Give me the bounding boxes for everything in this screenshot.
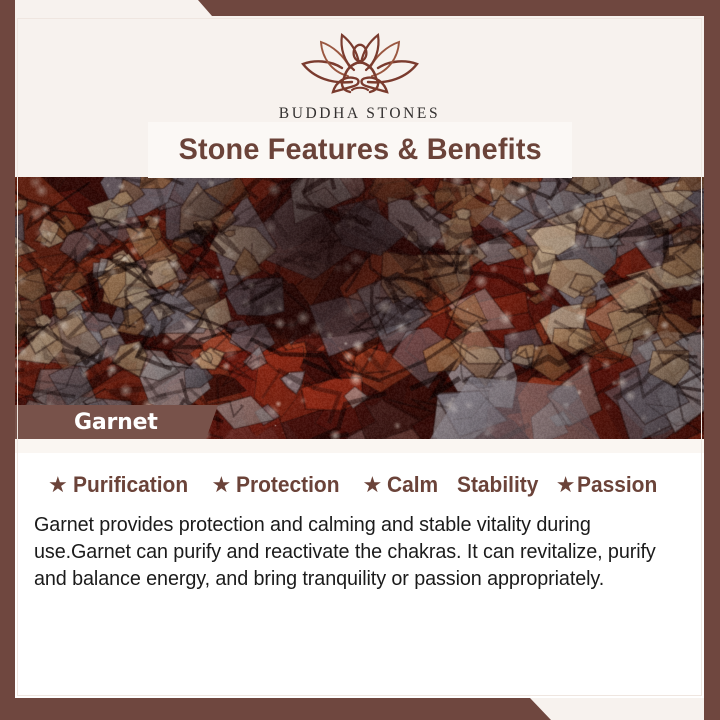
benefits-list: ★Purification★Protection★CalmStability★P… [48, 472, 686, 498]
benefit-item: ★Purification [48, 472, 197, 498]
frame-right-bar [704, 0, 720, 720]
star-icon: ★ [363, 474, 383, 496]
content-top-tint [15, 439, 704, 453]
title-band: Stone Features & Benefits [148, 122, 572, 178]
content-panel: ★Purification★Protection★CalmStability★P… [15, 439, 704, 698]
stone-name-banner: Garnet [0, 405, 218, 439]
star-icon: ★ [212, 474, 232, 496]
garnet-photo-canvas [0, 177, 720, 439]
infographic-page: BUDDHA STONES Stone Features & Benefits … [0, 0, 720, 720]
benefit-label: Purification [73, 472, 188, 498]
benefit-item: ★Protection [212, 472, 348, 498]
garnet-photo [0, 177, 720, 439]
benefit-label: Protection [236, 472, 339, 498]
lotus-meditation-icon [280, 26, 440, 104]
star-icon: ★ [48, 474, 68, 496]
benefit-label: Stability [457, 472, 538, 498]
frame-bottom-bar [0, 698, 720, 720]
stone-name: Garnet [74, 410, 158, 435]
frame-top-bar [0, 0, 720, 16]
brand-name: BUDDHA STONES [15, 105, 704, 123]
frame-left-bar [0, 0, 15, 720]
benefit-item: Stability [457, 472, 545, 498]
stone-description: Garnet provides protection and calming a… [34, 511, 659, 592]
benefit-item: ★Passion [556, 472, 663, 498]
benefit-item: ★Calm [363, 472, 443, 498]
benefit-label: Passion [577, 472, 657, 498]
brand-logo: BUDDHA STONES [15, 26, 704, 123]
star-icon: ★ [556, 474, 576, 496]
benefit-label: Calm [387, 472, 438, 498]
page-title: Stone Features & Benefits [178, 133, 541, 167]
